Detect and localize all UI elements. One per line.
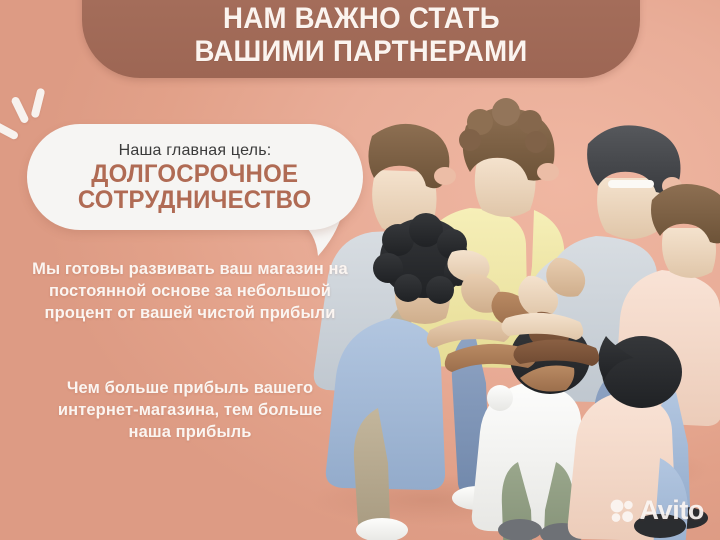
bubble-headline-line-1: ДОЛГОСРОЧНОЕ [92, 161, 299, 187]
avito-wordmark: Avito [640, 495, 705, 526]
avito-watermark: Avito [609, 495, 705, 526]
body-paragraph-2: Чем больше прибыль вашего интернет-магаз… [42, 378, 338, 444]
promo-poster: НАМ ВАЖНО СТАТЬ ВАШИМИ ПАРТНЕРАМИ Наша г… [0, 0, 720, 540]
bubble-intro-text: Наша главная цель: [119, 142, 272, 160]
avito-dots-logo [609, 498, 635, 524]
body-paragraph-1: Мы готовы развивать ваш магазин на посто… [22, 259, 358, 325]
goal-speech-bubble: Наша главная цель: ДОЛГОСРОЧНОЕ СОТРУДНИ… [27, 124, 363, 230]
bubble-headline-line-2: СОТРУДНИЧЕСТВО [78, 187, 312, 213]
